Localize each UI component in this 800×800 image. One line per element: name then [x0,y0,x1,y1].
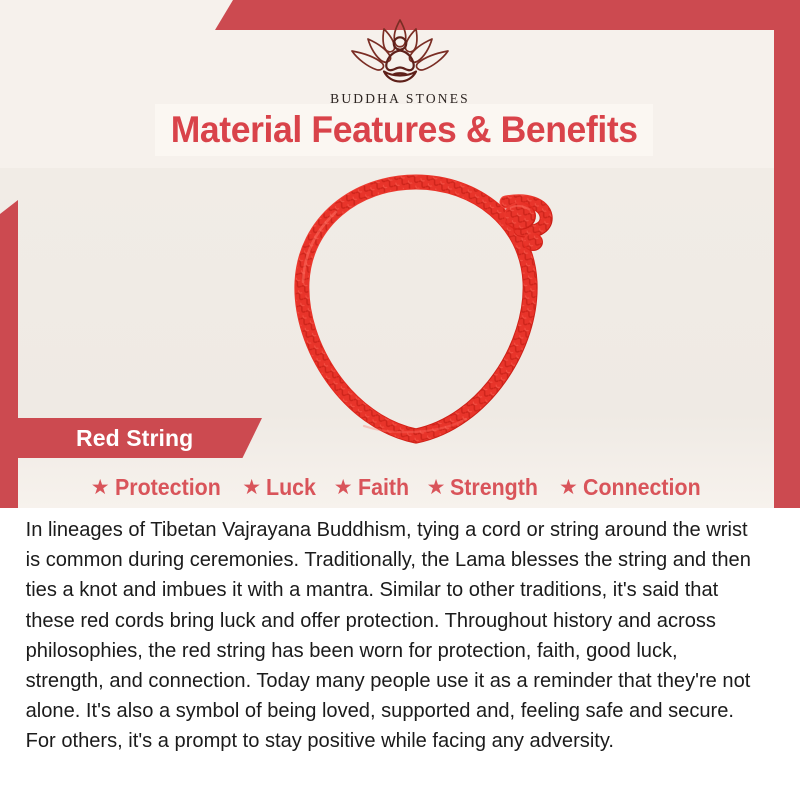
header: BUDDHA STONES [0,0,800,168]
lotus-meditation-icon [341,16,459,88]
benefit-label: Protection [115,474,221,501]
benefit-item-protection: ★ Protection [91,474,229,501]
benefit-item-luck: ★ Luck [242,474,320,501]
star-icon: ★ [559,477,578,498]
description-text: In lineages of Tibetan Vajrayana Buddhis… [0,508,788,757]
star-icon: ★ [334,477,353,498]
benefit-label: Strength [450,474,538,501]
description-panel: In lineages of Tibetan Vajrayana Buddhis… [0,508,800,800]
product-label: Red String [18,425,193,452]
benefit-item-connection: ★ Connection [559,474,709,501]
star-icon: ★ [242,477,261,498]
star-icon: ★ [427,477,446,498]
benefit-label: Luck [266,474,316,501]
product-label-banner: Red String [18,418,262,458]
benefit-item-faith: ★ Faith [334,474,413,501]
benefit-item-strength: ★ Strength [427,474,545,501]
infographic-root: BUDDHA STONES Material Features & Benefi… [0,0,800,800]
star-icon: ★ [91,477,110,498]
red-braided-cord-bracelet-icon [244,168,588,464]
brand-logo: BUDDHA STONES [330,16,470,107]
benefit-label: Faith [358,474,409,501]
brand-name: BUDDHA STONES [330,91,470,107]
benefits-row: ★ Protection ★ Luck ★ Faith ★ Strength ★… [0,466,800,508]
benefit-label: Connection [583,474,701,501]
